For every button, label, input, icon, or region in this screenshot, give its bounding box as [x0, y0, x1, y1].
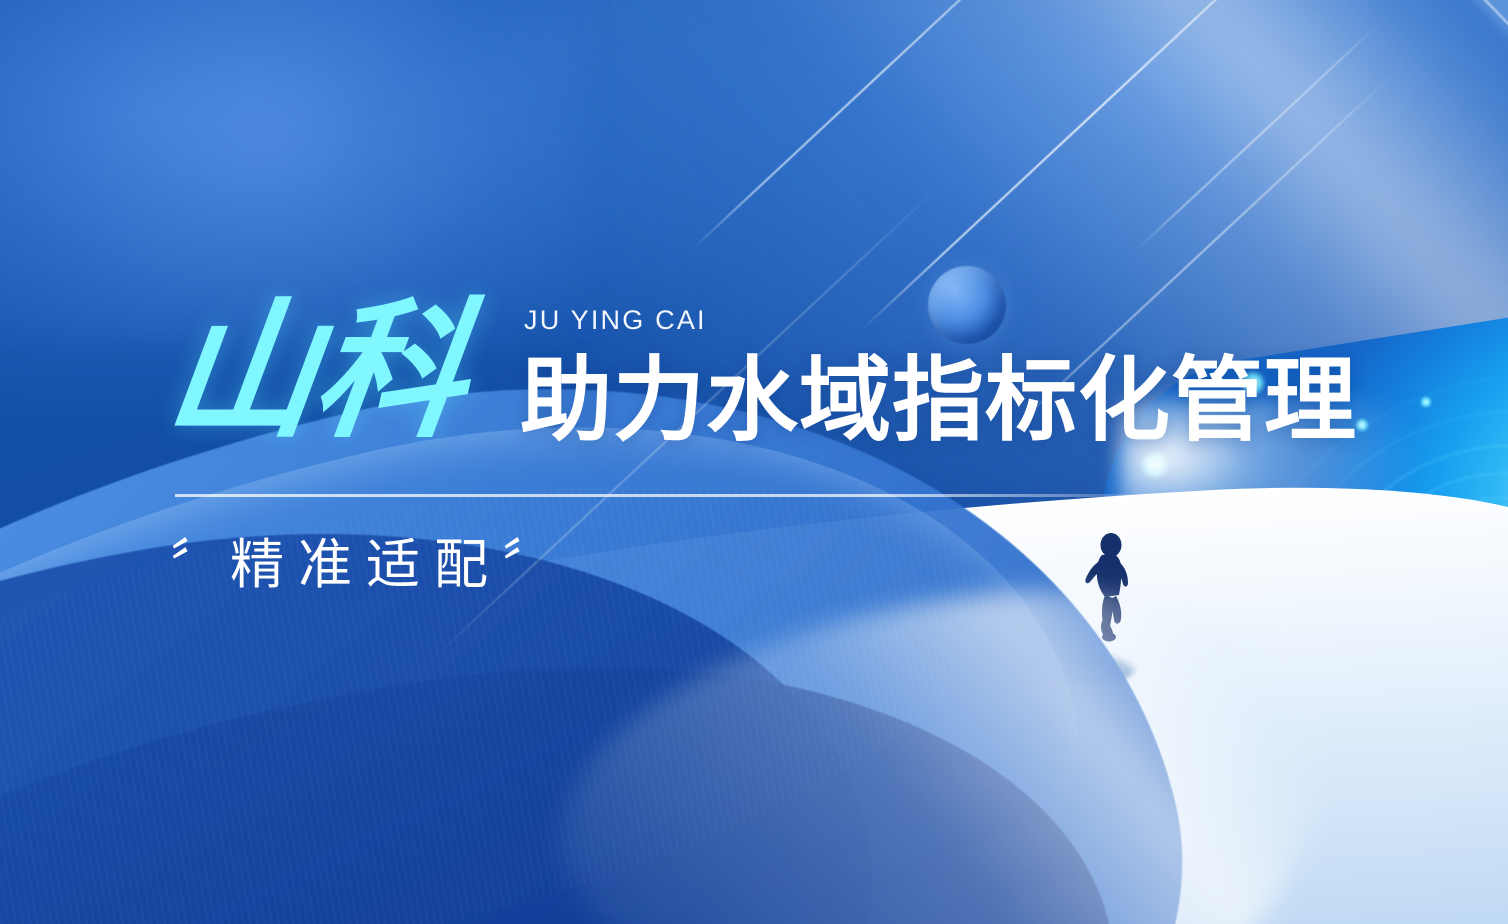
divider-line — [175, 494, 1157, 497]
tagline: 〞精准适配〞 — [170, 538, 562, 592]
promotional-banner: 山科 JU YING CAI 助力水域指标化管理 〞精准适配〞 — [0, 0, 1508, 924]
brand-pinyin: JU YING CAI — [524, 305, 707, 336]
tagline-open-quote: 〞 — [170, 535, 230, 595]
text-content: 山科 JU YING CAI 助力水域指标化管理 〞精准适配〞 — [0, 0, 1508, 924]
headline-text: 助力水域指标化管理 — [520, 355, 1357, 447]
brand-logo-text: 山科 — [159, 296, 473, 446]
tagline-close-quote: 〞 — [502, 535, 562, 595]
tagline-text: 精准适配 — [230, 535, 502, 595]
